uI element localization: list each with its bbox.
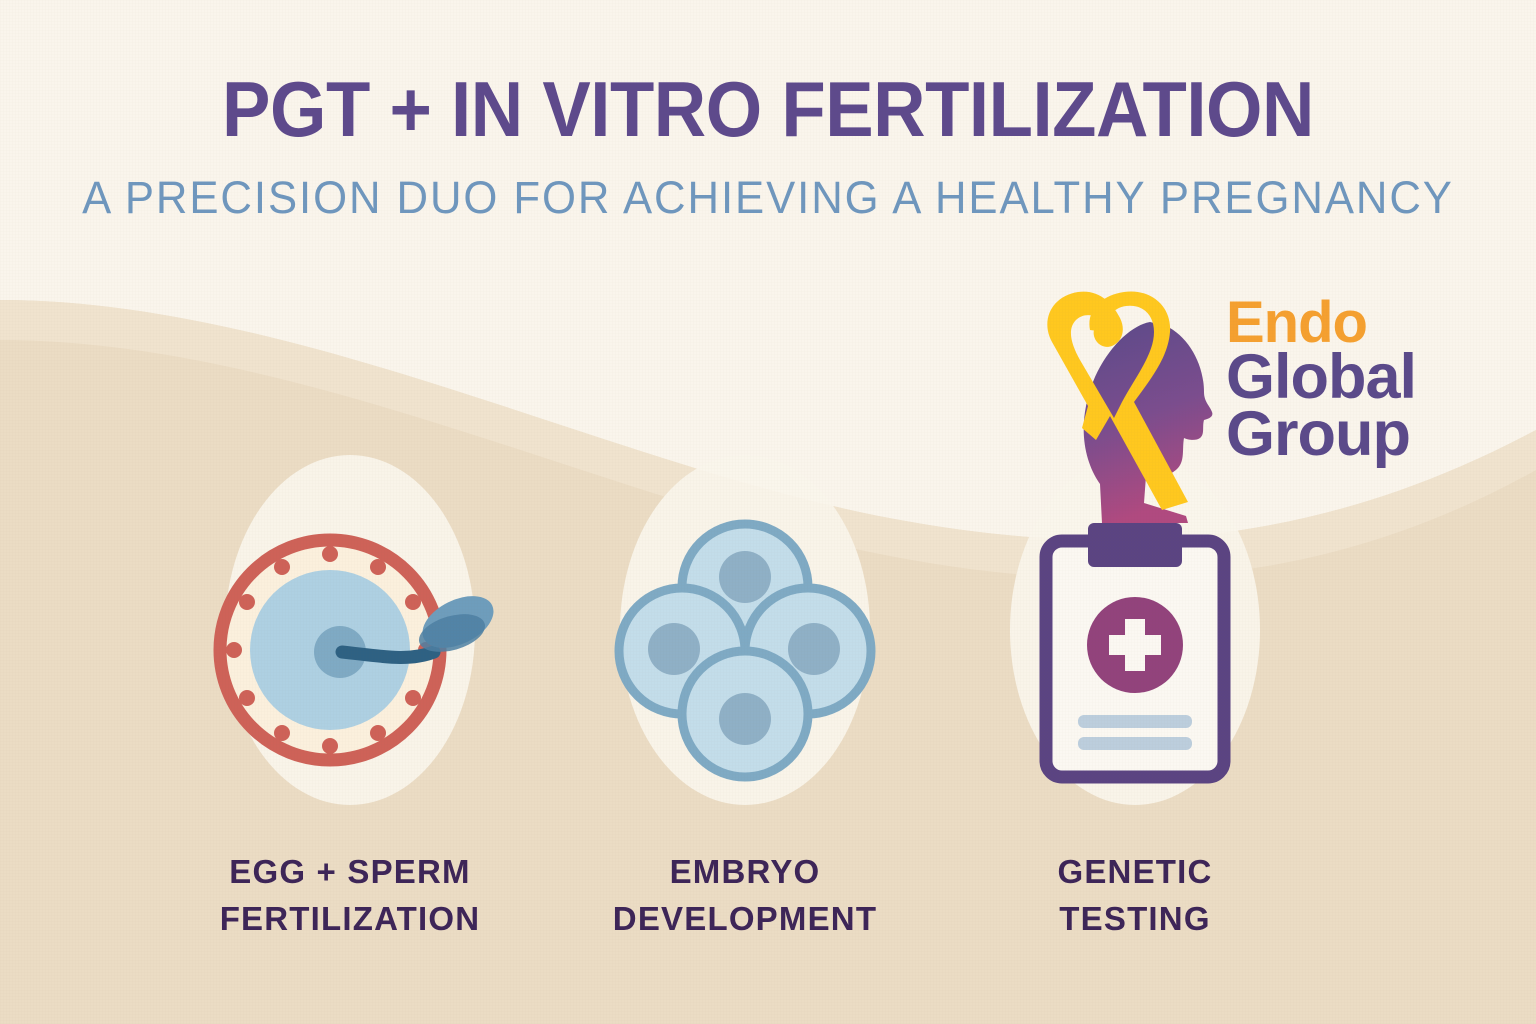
heading-block: PGT + IN VITRO FERTILIZATION A PRECISION…: [0, 0, 1536, 224]
egg-and-sperm-fertilization-icon: [190, 500, 510, 800]
brand-wordmark: Endo Global Group: [1226, 296, 1486, 463]
step-embryo-development[interactable]: EMBRYO DEVELOPMENT: [550, 455, 940, 943]
brand-line-group: Group: [1226, 405, 1486, 464]
step-genetic-testing[interactable]: GENETIC TESTING: [940, 455, 1330, 943]
four-cell-embryo-icon: [600, 505, 890, 795]
page-title: PGT + IN VITRO FERTILIZATION: [54, 72, 1482, 146]
step-label: GENETIC TESTING: [940, 849, 1330, 943]
step-egg-sperm-fertilization[interactable]: EGG + SPERM FERTILIZATION: [155, 455, 545, 943]
infographic-poster: PGT + IN VITRO FERTILIZATION A PRECISION…: [0, 0, 1536, 1024]
step-icon-disc: [155, 455, 545, 845]
page-subtitle: A PRECISION DUO FOR ACHIEVING A HEALTHY …: [23, 172, 1513, 224]
step-label: EMBRYO DEVELOPMENT: [550, 849, 940, 943]
ribbon-and-woman-profile-icon: [1038, 288, 1218, 523]
step-icon-disc: [550, 455, 940, 845]
brand-line-global: Global: [1226, 348, 1486, 407]
process-steps: EGG + SPERM FERTILIZATION: [0, 455, 1536, 975]
genetic-testing-clipboard-icon: [1010, 505, 1260, 795]
step-label: EGG + SPERM FERTILIZATION: [155, 849, 545, 943]
brand-logo[interactable]: Endo Global Group: [1038, 288, 1488, 528]
